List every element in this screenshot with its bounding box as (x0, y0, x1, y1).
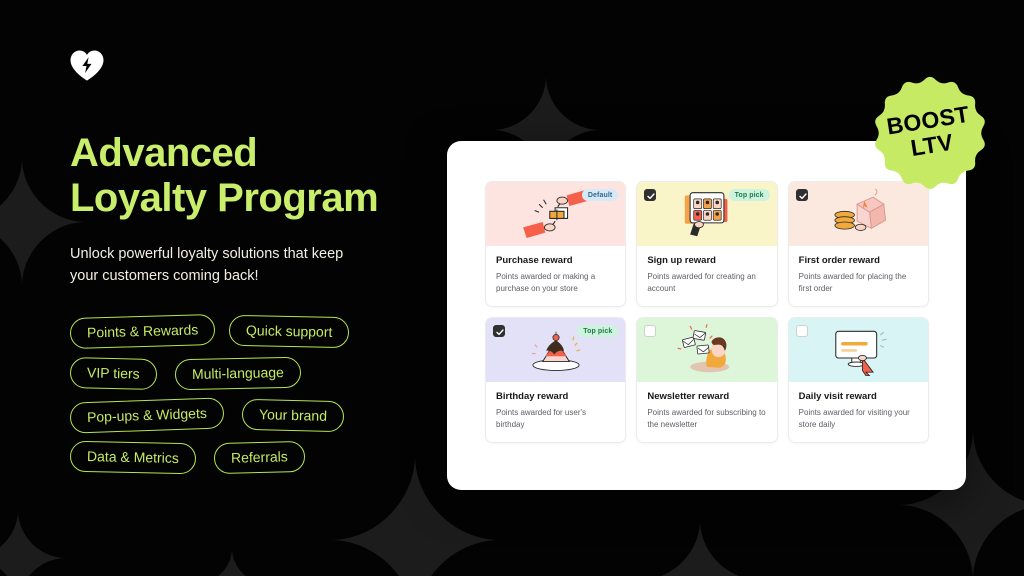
reward-card-description: Points awarded for creating an account (647, 271, 766, 294)
monitor-cursor-illustration (818, 324, 898, 376)
reward-card-description: Points awarded for placing the first ord… (799, 271, 918, 294)
feature-pill-referrals[interactable]: Referrals (213, 440, 305, 473)
reward-card-body: Sign up rewardPoints awarded for creatin… (637, 246, 776, 306)
reward-checkbox-daily-visit-reward[interactable] (796, 325, 808, 337)
status-badge-default: Default (582, 189, 618, 201)
heart-bolt-icon (70, 50, 104, 81)
boost-ltv-label: BOOST LTV (849, 62, 1012, 203)
sparkle-decoration (196, 548, 268, 576)
feature-pill-quick-support[interactable]: Quick support (229, 314, 350, 348)
reward-checkbox-sign-up-reward[interactable] (644, 189, 656, 201)
status-badge-toppick: Top pick (729, 189, 770, 201)
reward-card-artwork: Top pick (637, 182, 776, 246)
reward-checkbox-birthday-reward[interactable] (493, 325, 505, 337)
reward-card-body: Newsletter rewardPoints awarded for subs… (637, 382, 776, 442)
reward-card-description: Points awarded for subscribing to the ne… (647, 407, 766, 430)
reward-card-artwork (789, 318, 928, 382)
reward-card-artwork: Default (486, 182, 625, 246)
check-icon (647, 193, 655, 200)
person-envelopes-illustration (667, 324, 747, 376)
reward-card-birthday-reward[interactable]: Top pickBirthday rewardPoints awarded fo… (485, 317, 626, 443)
feature-pill-vip-tiers[interactable]: VIP tiers (70, 356, 157, 389)
reward-card-title: Newsletter reward (647, 391, 766, 402)
promo-banner: Advanced Loyalty Program Unlock powerful… (0, 0, 1024, 576)
reward-checkbox-newsletter-reward[interactable] (644, 325, 656, 337)
reward-card-body: Birthday rewardPoints awarded for user's… (486, 382, 625, 442)
reward-card-purchase-reward[interactable]: DefaultPurchase rewardPoints awarded or … (485, 181, 626, 307)
feature-pill-pop-ups-widgets[interactable]: Pop-ups & Widgets (70, 397, 225, 433)
reward-card-title: Purchase reward (496, 255, 615, 266)
reward-card-body: First order rewardPoints awarded for pla… (789, 246, 928, 306)
page-title: Advanced Loyalty Program (70, 131, 430, 221)
hero-subtitle: Unlock powerful loyalty solutions that k… (70, 243, 370, 288)
feature-pill-list: Points & RewardsQuick supportVIP tiersMu… (70, 316, 390, 473)
reward-card-title: Daily visit reward (799, 391, 918, 402)
reward-card-title: Sign up reward (647, 255, 766, 266)
reward-card-body: Daily visit rewardPoints awarded for vis… (789, 382, 928, 442)
reward-card-sign-up-reward[interactable]: Top pickSign up rewardPoints awarded for… (636, 181, 777, 307)
reward-card-newsletter-reward[interactable]: Newsletter rewardPoints awarded for subs… (636, 317, 777, 443)
reward-card-title: First order reward (799, 255, 918, 266)
feature-pill-multi-language[interactable]: Multi-language (174, 356, 300, 390)
feature-pill-your-brand[interactable]: Your brand (241, 398, 344, 432)
feature-pill-points-rewards[interactable]: Points & Rewards (70, 314, 216, 349)
reward-card-artwork (637, 318, 776, 382)
sparkle-decoration (640, 520, 760, 576)
boost-line-2: LTV (909, 130, 955, 161)
reward-checkbox-first-order-reward[interactable] (796, 189, 808, 201)
boost-ltv-badge: BOOST LTV (857, 73, 1003, 193)
reward-card-daily-visit-reward[interactable]: Daily visit rewardPoints awarded for vis… (788, 317, 929, 443)
reward-card-description: Points awarded for visiting your store d… (799, 407, 918, 430)
status-badge-toppick: Top pick (577, 325, 618, 337)
feature-pill-data-metrics[interactable]: Data & Metrics (70, 440, 196, 474)
reward-card-body: Purchase rewardPoints awarded or making … (486, 246, 625, 306)
pill-row: VIP tiersMulti-language (70, 358, 390, 389)
sparkle-decoration (0, 510, 66, 576)
reward-card-artwork: Top pick (486, 318, 625, 382)
reward-card-title: Birthday reward (496, 391, 615, 402)
reward-card-description: Points awarded or making a purchase on y… (496, 271, 615, 294)
pill-row: Pop-ups & WidgetsYour brand (70, 400, 390, 431)
check-icon (799, 193, 807, 200)
reward-card-grid: DefaultPurchase rewardPoints awarded or … (485, 181, 929, 443)
reward-card-description: Points awarded for user's birthday (496, 407, 615, 430)
reward-card-first-order-reward[interactable]: First order rewardPoints awarded for pla… (788, 181, 929, 307)
pill-row: Data & MetricsReferrals (70, 442, 390, 473)
check-icon (496, 329, 504, 336)
hero-content: Advanced Loyalty Program Unlock powerful… (70, 50, 430, 484)
pill-row: Points & RewardsQuick support (70, 316, 390, 347)
